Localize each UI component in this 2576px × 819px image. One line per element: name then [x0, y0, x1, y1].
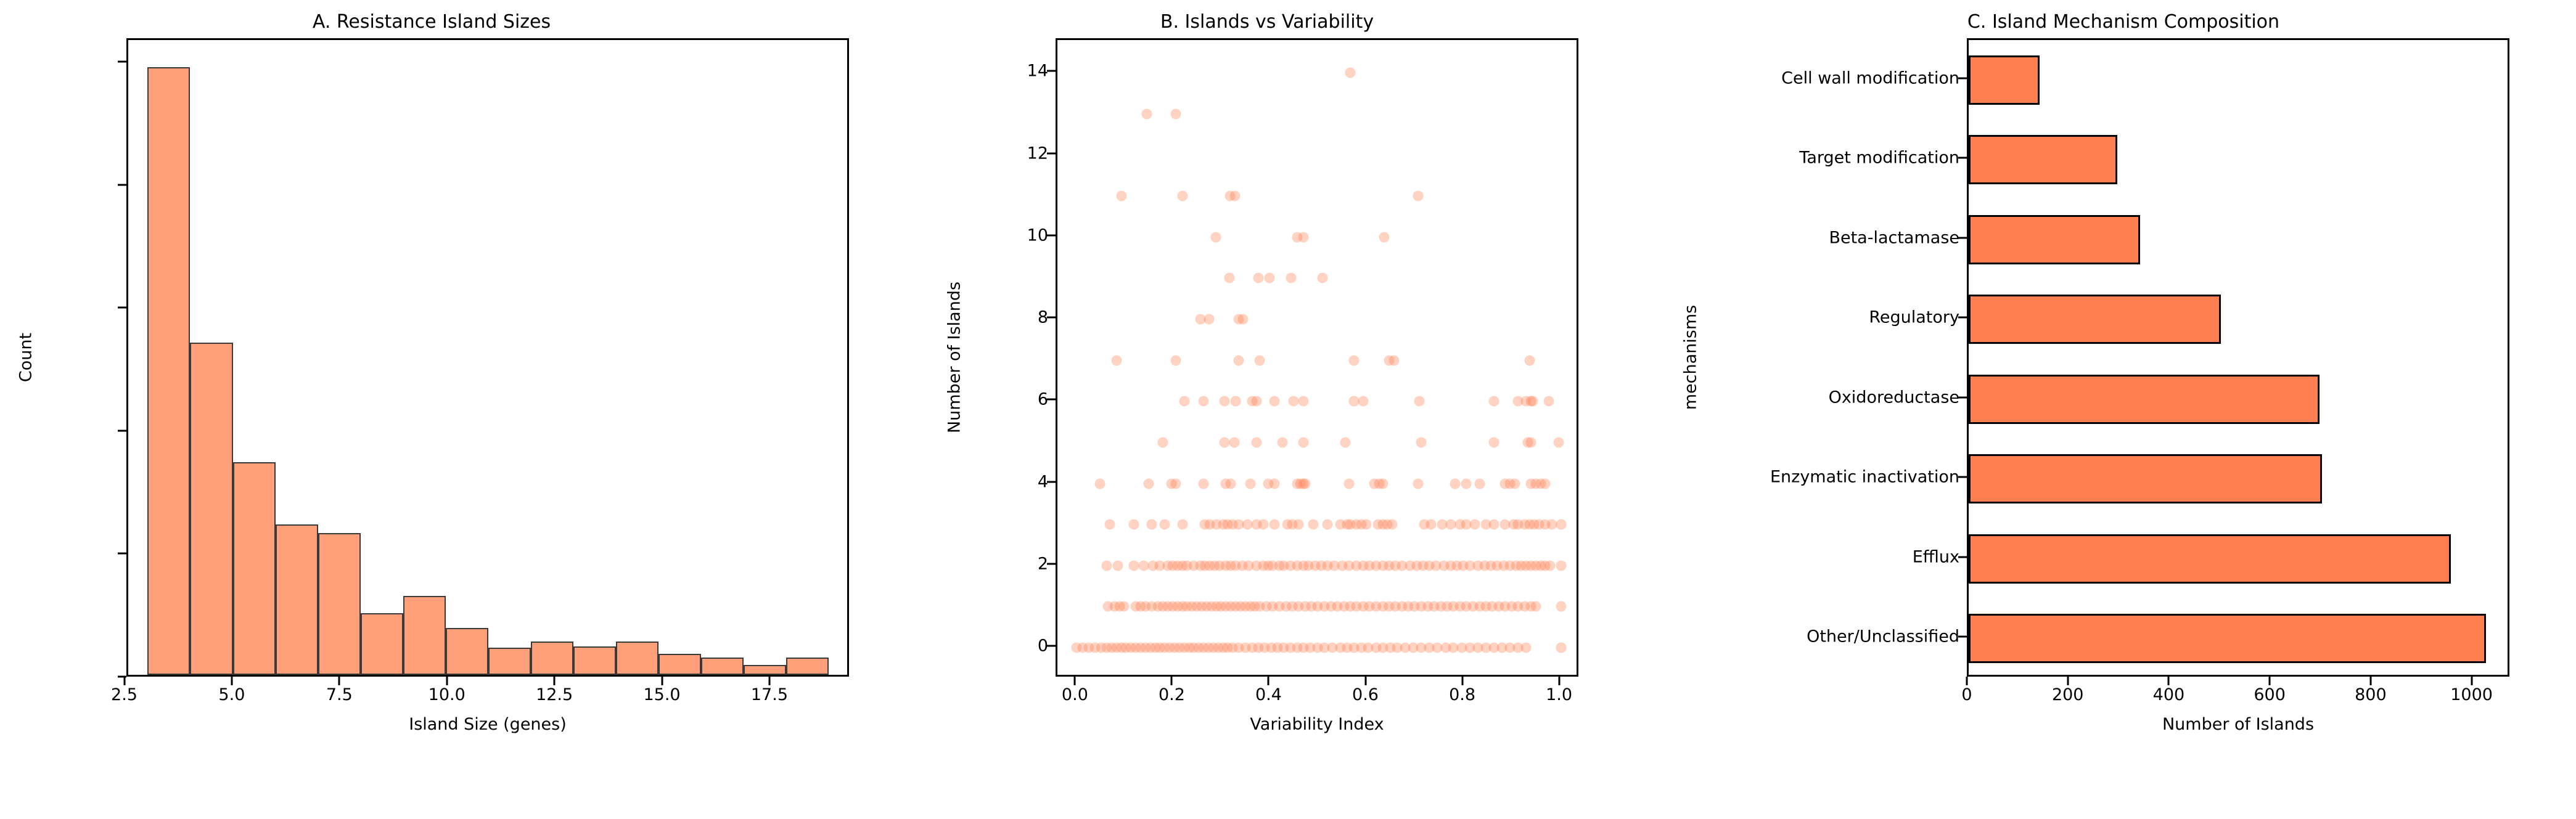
mechanism-bar [1969, 135, 2117, 184]
panel-b-x-tick-label: 0.0 [1062, 685, 1088, 704]
panel-b-y-tick-mark [1047, 481, 1056, 483]
panel-a-y-tick-mark [118, 184, 126, 185]
panel-a-y-tick-mark [118, 430, 126, 431]
panel-c-category-label: Target modification [1799, 149, 1959, 168]
panel-c-x-tick-label: 400 [2153, 685, 2185, 704]
panel-c-island-mechanism-composition: C. Island Mechanism Composition mechanis… [1671, 0, 2576, 819]
panel-b-x-tick-mark [1171, 677, 1173, 685]
scatter-point [1298, 437, 1308, 447]
panel-a-x-tick-label: 10.0 [429, 685, 466, 704]
mechanism-bar [1969, 375, 2320, 424]
histogram-bar [446, 628, 488, 675]
scatter-point [1361, 520, 1371, 530]
histogram-bar [744, 665, 786, 675]
scatter-point [1348, 396, 1359, 407]
panel-c-bars [1969, 40, 2508, 675]
scatter-point [1348, 355, 1359, 365]
panel-c-y-tick-mark [1958, 77, 1967, 79]
panel-c-y-tick-mark [1958, 237, 1967, 238]
scatter-point [1102, 560, 1112, 571]
panel-b-x-tick-mark [1461, 677, 1463, 685]
figure-canvas: A. Resistance Island Sizes Count Island … [0, 0, 2576, 819]
scatter-point [1521, 643, 1532, 653]
scatter-point [1255, 355, 1265, 365]
mechanism-bar [1969, 215, 2140, 264]
panel-c-category-label: Cell wall modification [1781, 68, 1959, 88]
scatter-point [1104, 520, 1115, 530]
scatter-point [1171, 478, 1181, 489]
panel-b-scatter-points [1057, 40, 1577, 675]
panel-b-x-tick-label: 0.8 [1449, 685, 1475, 704]
scatter-point [1556, 520, 1566, 530]
scatter-point [1556, 601, 1566, 612]
scatter-point [1199, 396, 1209, 407]
scatter-point [1138, 560, 1149, 571]
scatter-point [1158, 437, 1168, 447]
panel-a-x-tick-mark [554, 677, 556, 685]
panel-c-x-tick-mark [1966, 677, 1968, 685]
scatter-point [1323, 520, 1333, 530]
scatter-point [1474, 478, 1485, 489]
scatter-point [1229, 437, 1239, 447]
scatter-point [1298, 396, 1308, 407]
histogram-bar [616, 642, 658, 675]
panel-a-y-tick-mark [118, 307, 126, 309]
mechanism-bar [1969, 55, 2040, 105]
scatter-point [1450, 478, 1461, 489]
scatter-point [1413, 478, 1423, 489]
scatter-point [1171, 355, 1181, 365]
panel-a-x-tick-label: 2.5 [111, 685, 137, 704]
histogram-bar [361, 613, 403, 675]
histogram-bar [531, 642, 573, 675]
panel-b-y-tick-mark [1047, 70, 1056, 72]
scatter-point [1461, 478, 1472, 489]
scatter-point [1289, 396, 1299, 407]
scatter-point [1245, 478, 1255, 489]
scatter-point [1252, 396, 1262, 407]
panel-a-bars [128, 40, 847, 675]
mechanism-bar [1969, 614, 2486, 663]
panel-b-y-tick-label: 14 [1027, 62, 1048, 81]
panel-a-x-tick-label: 5.0 [218, 685, 245, 704]
panel-a-x-tick-mark [123, 677, 125, 685]
histogram-bar [318, 533, 361, 675]
scatter-point [1129, 520, 1139, 530]
panel-c-category-label: Oxidoreductase [1829, 388, 1959, 407]
panel-a-x-tick-mark [446, 677, 448, 685]
panel-b-x-tick-label: 0.6 [1352, 685, 1379, 704]
panel-c-x-axis-label: Number of Islands [1967, 715, 2509, 734]
scatter-point [1343, 478, 1354, 489]
scatter-point [1264, 273, 1274, 283]
scatter-point [1113, 560, 1123, 571]
scatter-point [1286, 273, 1297, 283]
scatter-point [1278, 437, 1288, 447]
panel-b-y-tick-mark [1047, 152, 1056, 154]
panel-c-x-tick-mark [2269, 677, 2271, 685]
panel-b-x-tick-mark [1558, 677, 1560, 685]
panel-c-y-tick-mark [1958, 157, 1967, 159]
panel-b-x-tick-label: 0.4 [1255, 685, 1282, 704]
scatter-point [1230, 396, 1241, 407]
histogram-bar [276, 524, 318, 675]
panel-c-category-label: Enzymatic inactivation [1770, 468, 1959, 487]
panel-c-x-tick-label: 1000 [2450, 685, 2493, 704]
scatter-point [1510, 478, 1520, 489]
panel-b-x-tick-label: 1.0 [1546, 685, 1572, 704]
panel-b-x-tick-mark [1268, 677, 1270, 685]
panel-c-x-tick-label: 200 [2052, 685, 2084, 704]
panel-c-x-tick-mark [2067, 677, 2069, 685]
histogram-bar [573, 646, 616, 675]
panel-b-islands-vs-variability: B. Islands vs Variability Number of Isla… [863, 0, 1671, 819]
mechanism-bar [1969, 454, 2322, 503]
scatter-point [1224, 273, 1234, 283]
scatter-point [1489, 396, 1499, 407]
scatter-point [1545, 560, 1556, 571]
panel-a-resistance-island-sizes: A. Resistance Island Sizes Count Island … [0, 0, 863, 819]
histogram-bar [233, 462, 276, 675]
histogram-bar [190, 343, 232, 675]
scatter-point [1269, 396, 1279, 407]
panel-a-title: A. Resistance Island Sizes [0, 11, 863, 33]
scatter-point [1556, 643, 1566, 653]
scatter-point [1524, 355, 1535, 365]
scatter-point [1469, 520, 1480, 530]
scatter-point [1253, 273, 1263, 283]
panel-c-category-label: Efflux [1913, 547, 1959, 566]
scatter-point [1129, 560, 1139, 571]
scatter-point [1556, 560, 1566, 571]
scatter-point [1387, 520, 1398, 530]
mechanism-bar [1969, 295, 2221, 344]
scatter-point [1377, 478, 1388, 489]
histogram-bar [488, 648, 531, 675]
scatter-point [1340, 437, 1351, 447]
scatter-point [1095, 478, 1105, 489]
scatter-point [1252, 437, 1262, 447]
scatter-point [1388, 355, 1399, 365]
panel-b-x-axis-label: Variability Index [1056, 715, 1578, 734]
scatter-point [1119, 601, 1130, 612]
scatter-point [1160, 520, 1170, 530]
panel-c-x-tick-mark [2471, 677, 2472, 685]
scatter-point [1294, 520, 1304, 530]
scatter-point [1234, 355, 1244, 365]
panel-c-y-tick-mark [1958, 476, 1967, 478]
scatter-point [1489, 520, 1499, 530]
scatter-point [1237, 314, 1248, 325]
panel-b-y-tick-mark [1047, 399, 1056, 401]
panel-c-title: C. Island Mechanism Composition [1671, 11, 2576, 33]
scatter-point [1300, 478, 1311, 489]
scatter-point [1111, 355, 1122, 365]
scatter-point [1117, 191, 1127, 202]
scatter-point [1308, 520, 1318, 530]
panel-a-x-tick-mark [231, 677, 232, 685]
mechanism-bar [1969, 534, 2451, 584]
panel-c-y-tick-mark [1958, 636, 1967, 638]
panel-b-y-tick-mark [1047, 563, 1056, 564]
panel-b-y-tick-mark [1047, 645, 1056, 647]
scatter-point [1204, 314, 1214, 325]
scatter-point [1226, 478, 1236, 489]
scatter-point [1147, 520, 1157, 530]
panel-b-plot-area [1056, 38, 1578, 677]
scatter-point [1269, 478, 1279, 489]
scatter-point [1445, 520, 1456, 530]
panel-b-y-tick-mark [1047, 317, 1056, 319]
scatter-point [1230, 191, 1241, 202]
scatter-point [1143, 478, 1154, 489]
scatter-point [1199, 478, 1209, 489]
scatter-point [1426, 520, 1437, 530]
panel-b-y-tick-label: 10 [1027, 226, 1048, 245]
panel-b-x-tick-mark [1364, 677, 1366, 685]
panel-b-y-tick-label: 12 [1027, 144, 1048, 163]
panel-a-x-tick-mark [768, 677, 770, 685]
histogram-bar [147, 67, 190, 675]
panel-c-y-tick-mark [1958, 317, 1967, 319]
panel-c-x-tick-label: 800 [2355, 685, 2387, 704]
panel-c-category-label: Regulatory [1869, 308, 1959, 327]
scatter-point [1489, 437, 1499, 447]
panel-c-category-label: Other/Unclassified [1807, 627, 1959, 646]
scatter-point [1543, 396, 1554, 407]
scatter-point [1219, 437, 1229, 447]
scatter-point [1318, 273, 1328, 283]
scatter-point [1298, 232, 1308, 242]
scatter-point [1142, 108, 1152, 119]
scatter-point [1528, 396, 1538, 407]
scatter-point [1177, 520, 1188, 530]
panel-b-y-tick-mark [1047, 234, 1056, 236]
panel-a-x-axis-label: Island Size (genes) [126, 715, 849, 734]
scatter-point [1413, 191, 1423, 202]
scatter-point [1540, 478, 1551, 489]
panel-c-x-tick-mark [2369, 677, 2371, 685]
panel-a-x-tick-mark [338, 677, 340, 685]
scatter-point [1171, 108, 1181, 119]
panel-a-y-axis-label: Count [17, 333, 36, 382]
panel-b-x-tick-label: 0.2 [1159, 685, 1185, 704]
panel-a-x-tick-label: 12.5 [536, 685, 573, 704]
panel-c-plot-area [1967, 38, 2509, 677]
panel-c-x-tick-label: 0 [1961, 685, 1972, 704]
scatter-point [1525, 437, 1536, 447]
scatter-point [1242, 520, 1252, 530]
panel-b-x-tick-mark [1074, 677, 1076, 685]
histogram-bar [786, 658, 829, 675]
scatter-point [1219, 396, 1229, 407]
scatter-point [1358, 396, 1369, 407]
scatter-point [1177, 191, 1188, 202]
panel-a-plot-area [126, 38, 849, 677]
histogram-bar [403, 596, 446, 675]
panel-a-x-tick-mark [661, 677, 663, 685]
panel-b-title: B. Islands vs Variability [863, 11, 1671, 33]
panel-a-x-tick-label: 7.5 [326, 685, 353, 704]
scatter-point [1210, 232, 1221, 242]
panel-c-y-tick-mark [1958, 396, 1967, 398]
panel-c-category-label: Beta-lactamase [1829, 228, 1959, 247]
scatter-point [1379, 232, 1390, 242]
scatter-point [1553, 437, 1564, 447]
panel-a-x-tick-label: 17.5 [751, 685, 788, 704]
scatter-point [1258, 520, 1268, 530]
scatter-point [1345, 68, 1356, 78]
panel-a-y-tick-mark [118, 553, 126, 555]
panel-c-y-tick-mark [1958, 556, 1967, 558]
histogram-bar [658, 654, 701, 675]
scatter-point [1179, 396, 1189, 407]
histogram-bar [701, 658, 744, 675]
scatter-point [1414, 396, 1425, 407]
scatter-point [1269, 520, 1279, 530]
scatter-point [1530, 601, 1541, 612]
panel-c-x-tick-label: 600 [2254, 685, 2286, 704]
panel-c-y-axis-label: mechanisms [1681, 305, 1700, 410]
panel-a-y-tick-mark [118, 60, 126, 62]
panel-c-x-tick-mark [2168, 677, 2170, 685]
panel-b-y-axis-label: Number of Islands [945, 282, 964, 433]
panel-a-x-tick-label: 15.0 [643, 685, 680, 704]
scatter-point [1416, 437, 1427, 447]
